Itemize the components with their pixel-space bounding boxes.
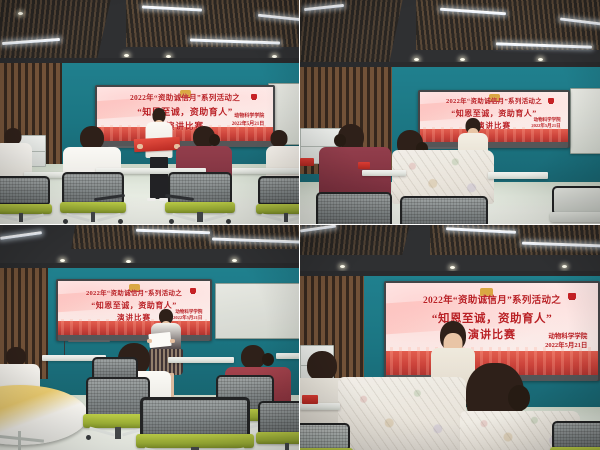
slide-date: 2022年5月21日 (531, 123, 560, 130)
chair-leg (289, 214, 299, 222)
slide-org: 动物科学学院 (232, 113, 265, 121)
chair-back (0, 176, 50, 205)
ceiling-beam-lower (400, 50, 600, 62)
chair-leg (23, 214, 44, 222)
ceiling-downlight (124, 54, 129, 57)
desk-surface (276, 353, 299, 359)
whiteboard (215, 283, 299, 339)
red-name-card (300, 158, 314, 166)
chair-mesh (88, 379, 148, 415)
chair (300, 423, 350, 450)
red-name-card (302, 395, 318, 404)
chair-back (140, 397, 250, 437)
chair-mesh (402, 198, 486, 224)
chair (0, 176, 50, 222)
chair-seat (256, 204, 299, 214)
slide-date: 2022年5月21日 (232, 121, 265, 129)
audience-head (241, 345, 265, 369)
ceiling-beam-lower (110, 47, 299, 58)
ceiling-downlight (414, 58, 419, 61)
chair-seat (256, 432, 299, 443)
chair-back (552, 421, 600, 449)
audience-head (307, 351, 337, 381)
chair-post (197, 212, 202, 222)
chair-back (316, 192, 392, 224)
wall-upper-trim (300, 271, 600, 276)
chair (552, 421, 600, 450)
desk-surface (362, 170, 406, 176)
photo-panel-bottom-left: 2022年“资助诚信月”系列活动之 “知恩至诚，资助育人” 演讲比赛 动物科学学… (0, 225, 299, 450)
red-name-card (358, 162, 370, 169)
wall-upper-trim (0, 58, 299, 63)
ceiling-downlight (18, 12, 23, 15)
chair (552, 186, 600, 224)
slide-line-1: 2022年“资助诚信月”系列活动之 (426, 97, 562, 106)
chair-mesh (94, 359, 136, 378)
chair-caster (118, 219, 123, 224)
chair (140, 397, 250, 450)
chair-seat (550, 212, 600, 222)
chair-mesh (554, 423, 600, 447)
chair-caster (226, 219, 231, 224)
chair-post (285, 443, 290, 450)
wall-upper-trim (0, 263, 299, 268)
ceiling-downlight (60, 259, 65, 262)
speaker-legs (150, 157, 168, 199)
chair-post (91, 212, 96, 222)
wall-upper-trim (300, 62, 600, 67)
chair-back (258, 176, 299, 205)
ceiling-wood-slats (64, 225, 299, 251)
chair-back (168, 172, 232, 204)
audience-hair-bun (508, 385, 530, 411)
slide-line-1: 2022年“资助诚信月”系列活动之 (104, 93, 266, 104)
projection-screen[interactable]: 2022年“资助诚信月”系列活动之 “知恩至诚，资助育人” 演讲比赛 动物科学学… (58, 281, 210, 335)
audience-hair-bun (209, 134, 220, 146)
projection-screen-frame: 2022年“资助诚信月”系列活动之 “知恩至诚，资助育人” 演讲比赛 动物科学学… (418, 90, 570, 148)
slide-signature: 动物科学学院 2022年5月21日 (545, 332, 587, 352)
slide-line-1: 2022年“资助诚信月”系列活动之 (64, 289, 204, 298)
draped-jacket (338, 377, 466, 450)
chair-leg (0, 214, 18, 222)
speaker-shoe (147, 198, 156, 201)
chair (168, 172, 232, 222)
chair-mesh (260, 178, 299, 203)
table-leg (18, 431, 21, 450)
projection-screen[interactable]: 2022年“资助诚信月”系列活动之 “知恩至诚，资助育人” 演讲比赛 动物科学学… (386, 283, 598, 375)
chair (316, 192, 392, 224)
chair (400, 196, 488, 224)
audience-hair-bun (334, 134, 346, 147)
audience-hair-bun (262, 353, 274, 366)
chair-mesh (300, 425, 348, 448)
chair (258, 401, 299, 450)
chair-mesh (260, 403, 299, 432)
chair (62, 172, 124, 222)
slide-signature: 动物科学学院 2022年5月21日 (531, 117, 560, 131)
screen-pen-tray (68, 340, 110, 342)
desk-surface (168, 357, 234, 363)
chair (258, 176, 299, 222)
slide-line-1: 2022年“资助诚信月”系列活动之 (394, 295, 589, 309)
audience-head (270, 130, 287, 147)
ceiling (0, 0, 299, 58)
chair-post (191, 447, 200, 450)
slide-org: 动物科学学院 (545, 332, 587, 342)
desk-surface (232, 168, 299, 174)
photo-panel-top-left: 2022年“资助诚信月”系列活动之 “知恩至诚，资助育人” 演讲比赛 动物科学学… (0, 0, 299, 224)
ceiling-beam-lower (40, 249, 299, 263)
chair-back (552, 186, 600, 214)
chair-back (300, 423, 350, 450)
ceiling (0, 225, 299, 263)
ceiling-downlight (562, 265, 567, 268)
projection-screen[interactable]: 2022年“资助诚信月”系列活动之 “知恩至诚，资助育人” 演讲比赛 动物科学学… (420, 92, 568, 142)
chair-leg (66, 213, 90, 222)
photo-collage: 2022年“资助诚信月”系列活动之 “知恩至诚，资助育人” 演讲比赛 动物科学学… (0, 0, 600, 450)
ceiling-downlight (450, 266, 455, 269)
speaker-hand (137, 144, 143, 149)
ceiling-downlight (538, 58, 543, 61)
chair-back (258, 401, 299, 434)
chair-mesh (0, 178, 48, 203)
chair-post (115, 427, 120, 439)
whiteboard (570, 88, 600, 154)
chair-leg (172, 213, 196, 222)
desk-surface (300, 403, 340, 410)
ceiling (300, 225, 600, 271)
photo-panel-bottom-right: 2022年“资助诚信月”系列活动之 “知恩至诚，资助育人” 演讲比赛 动物科学学… (300, 225, 600, 450)
chair-leg (89, 427, 114, 437)
desk-surface (488, 172, 548, 179)
chair-mesh (318, 194, 390, 224)
chair-leg (261, 214, 282, 222)
ceiling-downlight (340, 265, 345, 268)
slide-signature: 动物科学学院 2022年5月21日 (232, 113, 265, 128)
chair-leg (97, 213, 121, 222)
slide-date: 2022年5月21日 (545, 341, 587, 351)
chair-seat (0, 204, 52, 214)
chair-post (284, 213, 288, 222)
chair-leg (204, 213, 228, 222)
chair-back (62, 172, 124, 204)
ceiling-downlight (460, 58, 465, 61)
projection-screen-frame: 2022年“资助诚信月”系列活动之 “知恩至诚，资助育人” 演讲比赛 动物科学学… (56, 279, 212, 341)
speaker-shoe (159, 198, 168, 201)
slide-line-2: “知恩至诚，资助育人” (394, 311, 589, 328)
chair-back (400, 196, 488, 224)
chair-mesh (143, 400, 247, 434)
ceiling (300, 0, 600, 62)
ceiling-downlight (232, 259, 237, 262)
photo-panel-top-right: 2022年“资助诚信月”系列活动之 “知恩至诚，资助育人” 演讲比赛 动物科学学… (300, 0, 600, 224)
